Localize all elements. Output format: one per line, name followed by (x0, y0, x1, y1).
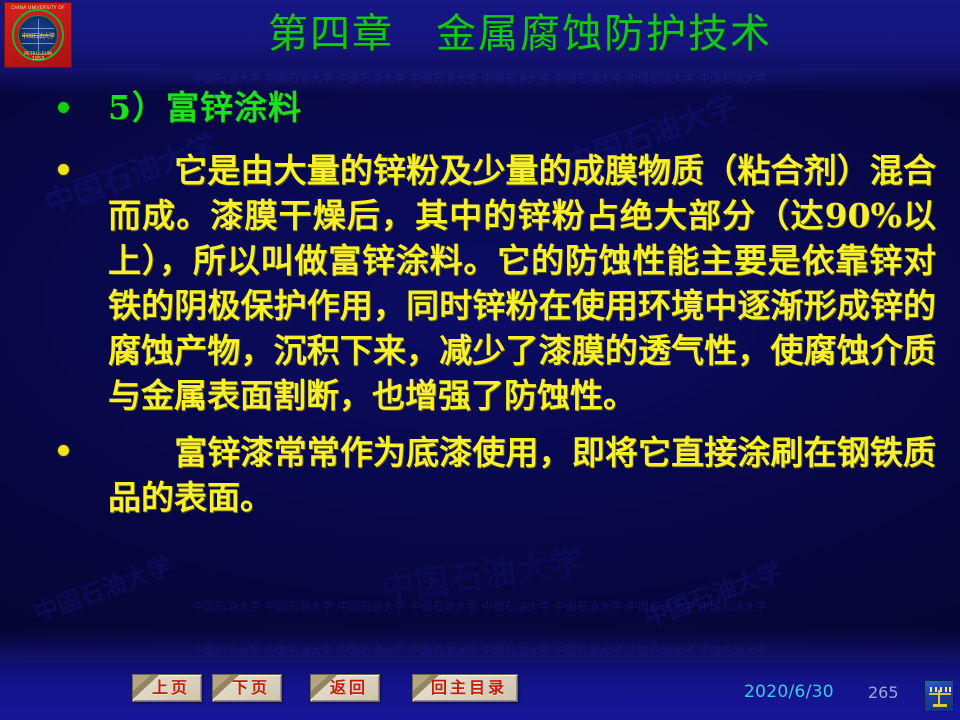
logo-founding-year: 1953 (5, 56, 71, 62)
bullet-heading-text: 5）富锌涂料 (0, 86, 960, 130)
prev-page-button-label: 上页 (133, 675, 201, 701)
main-menu-button[interactable]: 回主目录 (412, 674, 518, 702)
bullet-paragraph-text: 富锌漆常常作为底漆使用，即将它直接涂刷在钢铁质品的表面。 (0, 430, 960, 520)
next-page-button[interactable]: 下页 (212, 674, 282, 702)
logo-chinese-name: 中国石油大学 (19, 31, 57, 40)
logo-globe: 中国石油大学 (18, 15, 58, 55)
bullet-item-heading: 5）富锌涂料 (0, 86, 960, 130)
menorah-flame-icon (940, 687, 942, 692)
bullet-marker-yellow-icon (58, 164, 69, 175)
slide-date: 2020/6/30 (744, 682, 834, 702)
menorah-stem-icon (938, 690, 940, 705)
next-page-button-label: 下页 (213, 675, 281, 701)
presentation-slide: 中国石油大学 中国石油大学 中国石油大学 中国石油大学 中国石油大学 中国石油大… (0, 0, 960, 720)
menorah-flame-icon (945, 687, 947, 692)
bullet-marker-green-icon (58, 102, 69, 113)
menorah-flame-icon (935, 687, 937, 692)
main-menu-button-label: 回主目录 (413, 675, 517, 701)
bullet-item-paragraph: 它是由大量的锌粉及少量的成膜物质（粘合剂）混合而成。漆膜干燥后，其中的锌粉占绝大… (0, 148, 960, 418)
bullet-marker-yellow-icon (58, 445, 69, 456)
bullet-item-paragraph: 富锌漆常常作为底漆使用，即将它直接涂刷在钢铁质品的表面。 (0, 430, 960, 520)
bullet-paragraph-text: 它是由大量的锌粉及少量的成膜物质（粘合剂）混合而成。漆膜干燥后，其中的锌粉占绝大… (0, 148, 960, 418)
menorah-base-icon (933, 704, 947, 707)
menorah-flame-icon (949, 687, 951, 692)
back-button[interactable]: 返回 (310, 674, 380, 702)
university-logo: CHINA UNIVERSITY OF 中国石油大学 PETROLEUM 195… (4, 2, 72, 68)
menorah-arm-icon (929, 693, 951, 695)
slide-title: 第四章 金属腐蚀防护技术 (80, 6, 960, 62)
menorah-flame-icon (930, 687, 932, 692)
menorah-thumbnail-image[interactable] (924, 680, 954, 712)
back-button-label: 返回 (311, 675, 379, 701)
slide-page-number: 265 (868, 683, 899, 702)
slide-body: 5）富锌涂料 它是由大量的锌粉及少量的成膜物质（粘合剂）混合而成。漆膜干燥后，其… (0, 80, 960, 656)
prev-page-button[interactable]: 上页 (132, 674, 202, 702)
logo-arc-top-text: CHINA UNIVERSITY OF (5, 6, 71, 11)
slide-navigation-bar: 上页 下页 返回 回主目录 2020/6/30 265 (0, 662, 960, 720)
